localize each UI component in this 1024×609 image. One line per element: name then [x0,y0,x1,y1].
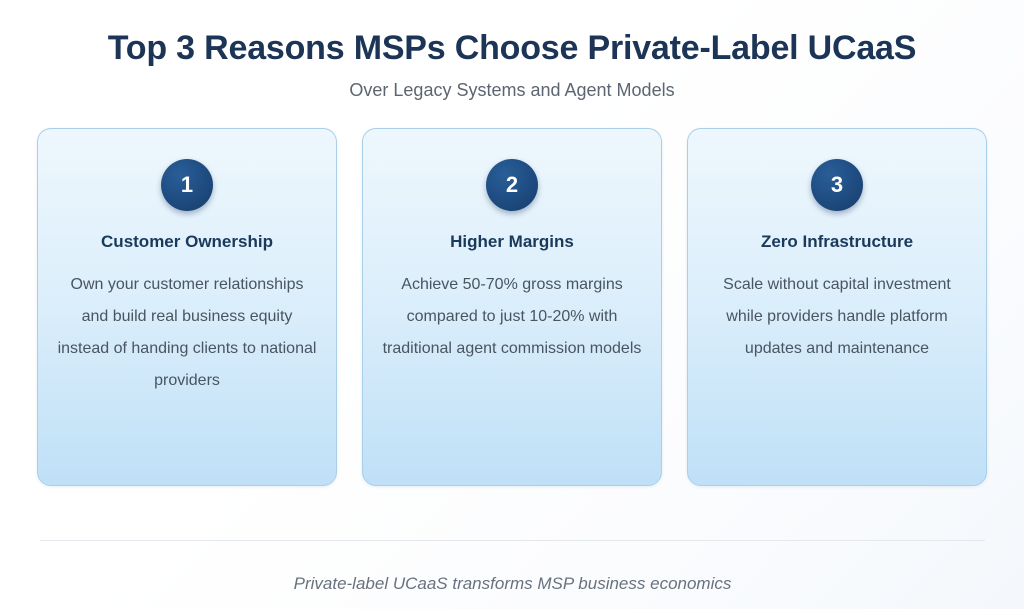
number-badge-1: 1 [161,159,213,211]
reason-card-3: 3 Zero Infrastructure Scale without capi… [687,128,987,486]
page-subtitle: Over Legacy Systems and Agent Models [0,78,1024,102]
reason-card-title: Zero Infrastructure [761,231,913,253]
reason-card-2: 2 Higher Margins Achieve 50-70% gross ma… [362,128,662,486]
number-badge-3: 3 [811,159,863,211]
number-badge-2: 2 [486,159,538,211]
badge-number-label: 2 [506,174,518,196]
reason-card-body: Achieve 50-70% gross margins compared to… [381,269,643,365]
footer-note: Private-label UCaaS transforms MSP busin… [40,541,985,595]
reason-card-title: Customer Ownership [101,231,273,253]
reason-card-list: 1 Customer Ownership Own your customer r… [37,128,987,486]
page-title: Top 3 Reasons MSPs Choose Private-Label … [0,26,1024,70]
poster-footer: Private-label UCaaS transforms MSP busin… [40,540,985,595]
reason-card-title: Higher Margins [450,231,574,253]
reason-card-body: Own your customer relationships and buil… [56,269,318,397]
badge-number-label: 1 [181,174,193,196]
reason-card-body: Scale without capital investment while p… [706,269,968,365]
infographic-poster: Top 3 Reasons MSPs Choose Private-Label … [0,0,1024,609]
badge-number-label: 3 [831,174,843,196]
reason-card-1: 1 Customer Ownership Own your customer r… [37,128,337,486]
poster-header: Top 3 Reasons MSPs Choose Private-Label … [0,0,1024,102]
